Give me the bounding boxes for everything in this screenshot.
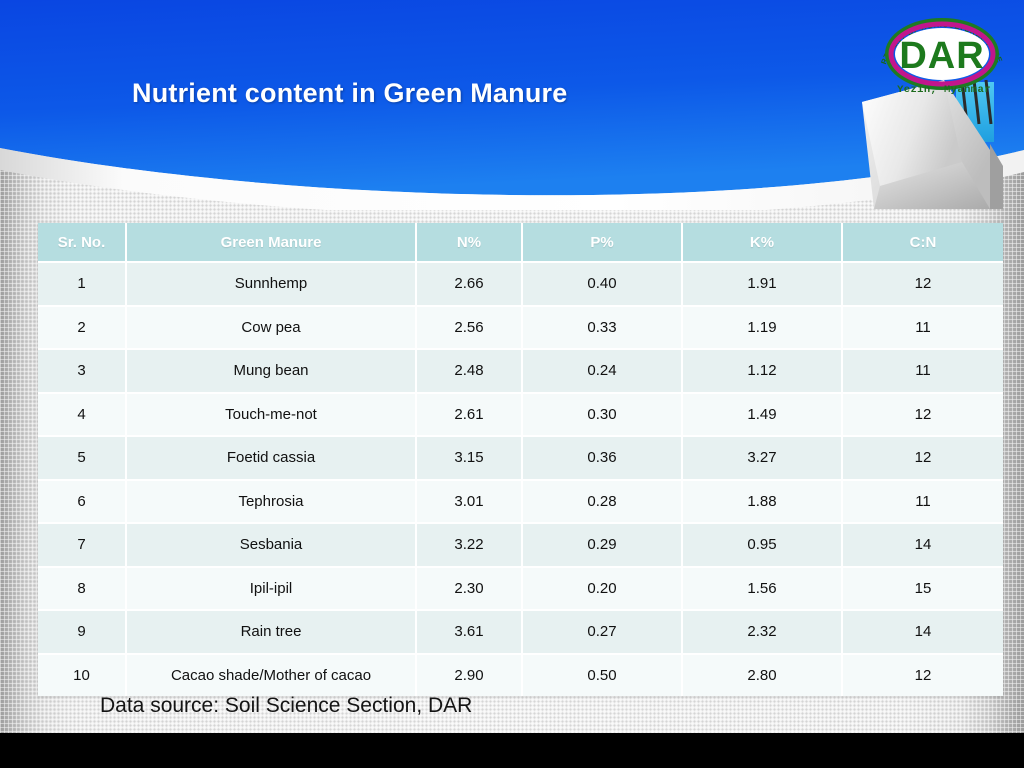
cell-n-percent: 3.01 bbox=[416, 480, 522, 524]
cell-p-percent: 0.36 bbox=[522, 436, 682, 480]
cell-green-manure: Tephrosia bbox=[126, 480, 416, 524]
cell-green-manure: Sunnhemp bbox=[126, 262, 416, 306]
column-header-green-manure[interactable]: Green Manure bbox=[126, 223, 416, 262]
bottom-bar bbox=[0, 733, 1024, 768]
cell-sr-no: 8 bbox=[38, 567, 126, 611]
cell-p-percent: 0.27 bbox=[522, 610, 682, 654]
cell-cn-ratio: 15 bbox=[842, 567, 1003, 611]
cell-sr-no: 3 bbox=[38, 349, 126, 393]
cell-cn-ratio: 12 bbox=[842, 262, 1003, 306]
cell-green-manure: Rain tree bbox=[126, 610, 416, 654]
column-header-cn-ratio[interactable]: C:N bbox=[842, 223, 1003, 262]
nutrient-table: Sr. No. Green Manure N% P% K% C:N 1 Sunn… bbox=[38, 223, 1003, 696]
cell-p-percent: 0.33 bbox=[522, 306, 682, 350]
cell-k-percent: 2.80 bbox=[682, 654, 842, 697]
cell-sr-no: 7 bbox=[38, 523, 126, 567]
svg-text:DAR: DAR bbox=[899, 35, 984, 77]
cell-cn-ratio: 14 bbox=[842, 610, 1003, 654]
cell-p-percent: 0.24 bbox=[522, 349, 682, 393]
cell-sr-no: 10 bbox=[38, 654, 126, 697]
cell-sr-no: 5 bbox=[38, 436, 126, 480]
cell-sr-no: 2 bbox=[38, 306, 126, 350]
cell-p-percent: 0.30 bbox=[522, 393, 682, 437]
cell-n-percent: 2.61 bbox=[416, 393, 522, 437]
table-row: 10 Cacao shade/Mother of cacao 2.90 0.50… bbox=[38, 654, 1003, 697]
cell-n-percent: 2.66 bbox=[416, 262, 522, 306]
cell-p-percent: 0.40 bbox=[522, 262, 682, 306]
cell-n-percent: 3.15 bbox=[416, 436, 522, 480]
table-body: 1 Sunnhemp 2.66 0.40 1.91 12 2 Cow pea 2… bbox=[38, 262, 1003, 696]
data-source-note: Data source: Soil Science Section, DAR bbox=[100, 694, 472, 718]
cell-green-manure: Cow pea bbox=[126, 306, 416, 350]
cell-p-percent: 0.28 bbox=[522, 480, 682, 524]
nutrient-table-wrapper: Sr. No. Green Manure N% P% K% C:N 1 Sunn… bbox=[38, 223, 1003, 696]
cell-sr-no: 6 bbox=[38, 480, 126, 524]
cell-p-percent: 0.50 bbox=[522, 654, 682, 697]
column-header-k-percent[interactable]: K% bbox=[682, 223, 842, 262]
cell-k-percent: 1.19 bbox=[682, 306, 842, 350]
table-header-row: Sr. No. Green Manure N% P% K% C:N bbox=[38, 223, 1003, 262]
column-header-sr-no[interactable]: Sr. No. bbox=[38, 223, 126, 262]
table-row: 3 Mung bean 2.48 0.24 1.12 11 bbox=[38, 349, 1003, 393]
table-row: 5 Foetid cassia 3.15 0.36 3.27 12 bbox=[38, 436, 1003, 480]
cell-green-manure: Ipil-ipil bbox=[126, 567, 416, 611]
cell-k-percent: 1.12 bbox=[682, 349, 842, 393]
cell-n-percent: 2.30 bbox=[416, 567, 522, 611]
table-row: 9 Rain tree 3.61 0.27 2.32 14 bbox=[38, 610, 1003, 654]
cell-k-percent: 3.27 bbox=[682, 436, 842, 480]
table-header: Sr. No. Green Manure N% P% K% C:N bbox=[38, 223, 1003, 262]
page-title: Nutrient content in Green Manure bbox=[132, 78, 567, 109]
table-row: 8 Ipil-ipil 2.30 0.20 1.56 15 bbox=[38, 567, 1003, 611]
table-row: 6 Tephrosia 3.01 0.28 1.88 11 bbox=[38, 480, 1003, 524]
table-row: 4 Touch-me-not 2.61 0.30 1.49 12 bbox=[38, 393, 1003, 437]
cell-green-manure: Foetid cassia bbox=[126, 436, 416, 480]
cell-p-percent: 0.20 bbox=[522, 567, 682, 611]
cell-k-percent: 2.32 bbox=[682, 610, 842, 654]
cell-cn-ratio: 11 bbox=[842, 349, 1003, 393]
cell-green-manure: Cacao shade/Mother of cacao bbox=[126, 654, 416, 697]
cell-n-percent: 2.90 bbox=[416, 654, 522, 697]
cell-sr-no: 4 bbox=[38, 393, 126, 437]
cell-cn-ratio: 11 bbox=[842, 306, 1003, 350]
cell-k-percent: 1.91 bbox=[682, 262, 842, 306]
cell-k-percent: 1.49 bbox=[682, 393, 842, 437]
cell-sr-no: 9 bbox=[38, 610, 126, 654]
table-row: 7 Sesbania 3.22 0.29 0.95 14 bbox=[38, 523, 1003, 567]
cell-cn-ratio: 12 bbox=[842, 654, 1003, 697]
table-row: 2 Cow pea 2.56 0.33 1.19 11 bbox=[38, 306, 1003, 350]
cell-green-manure: Mung bean bbox=[126, 349, 416, 393]
cell-n-percent: 2.48 bbox=[416, 349, 522, 393]
column-header-n-percent[interactable]: N% bbox=[416, 223, 522, 262]
column-header-p-percent[interactable]: P% bbox=[522, 223, 682, 262]
logo-caption: Yezin, Myanmar bbox=[878, 84, 1010, 96]
cell-k-percent: 1.56 bbox=[682, 567, 842, 611]
cell-cn-ratio: 12 bbox=[842, 393, 1003, 437]
cell-green-manure: Touch-me-not bbox=[126, 393, 416, 437]
cell-cn-ratio: 12 bbox=[842, 436, 1003, 480]
cell-k-percent: 0.95 bbox=[682, 523, 842, 567]
cell-green-manure: Sesbania bbox=[126, 523, 416, 567]
cell-n-percent: 2.56 bbox=[416, 306, 522, 350]
cell-cn-ratio: 14 bbox=[842, 523, 1003, 567]
cell-p-percent: 0.29 bbox=[522, 523, 682, 567]
cell-n-percent: 3.22 bbox=[416, 523, 522, 567]
cell-cn-ratio: 11 bbox=[842, 480, 1003, 524]
cell-sr-no: 1 bbox=[38, 262, 126, 306]
table-row: 1 Sunnhemp 2.66 0.40 1.91 12 bbox=[38, 262, 1003, 306]
cell-n-percent: 3.61 bbox=[416, 610, 522, 654]
slide: Nutrient content in Green Manure bbox=[0, 0, 1024, 768]
cell-k-percent: 1.88 bbox=[682, 480, 842, 524]
